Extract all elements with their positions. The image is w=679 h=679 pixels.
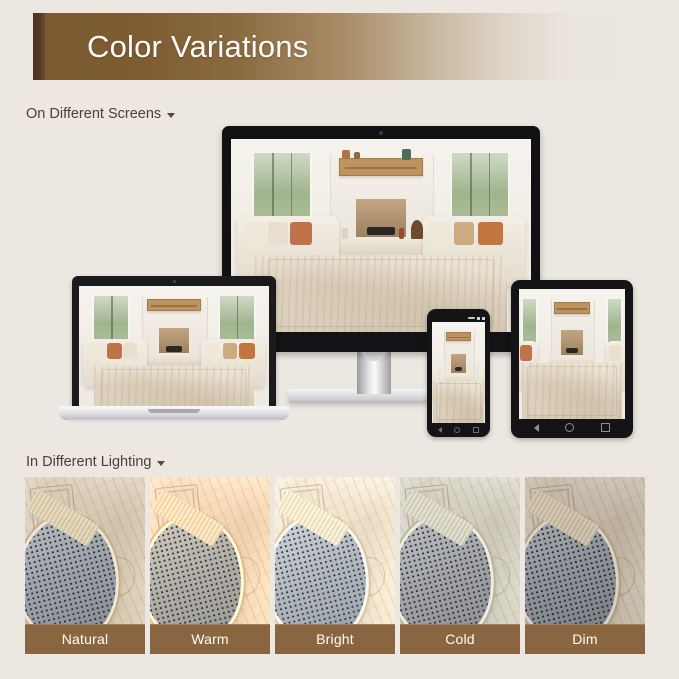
phone-screen: [432, 322, 485, 423]
lighting-tile-cold[interactable]: Cold: [400, 477, 520, 654]
banner-left-edge: [33, 13, 45, 80]
room-scene-laptop: [79, 286, 269, 419]
device-tablet[interactable]: [511, 280, 633, 438]
rug-swatch-image: [275, 477, 395, 624]
battery-icon: [482, 317, 485, 320]
section-heading-screens-label: On Different Screens: [26, 106, 161, 122]
room-scene-phone: [432, 322, 485, 423]
recents-icon[interactable]: [473, 427, 479, 433]
lighting-tile-label: Dim: [525, 624, 645, 654]
lighting-tiles-grid: Natural Warm Bright Cold: [25, 477, 645, 654]
devices-group: [0, 126, 679, 446]
room-decor-table: [411, 220, 423, 239]
section-heading-lighting-label: In Different Lighting: [26, 454, 151, 470]
product-color-variations-panel: Color Variations On Different Screens: [0, 0, 679, 679]
home-icon[interactable]: [565, 423, 574, 432]
rug-swatch-image: [400, 477, 520, 624]
chevron-down-icon[interactable]: [157, 461, 165, 466]
tablet-screen: [519, 289, 625, 419]
phone-status-bar: [432, 314, 485, 322]
chevron-down-icon[interactable]: [167, 113, 175, 118]
room-decor-vase: [342, 150, 350, 160]
lighting-tile-label: Warm: [150, 624, 270, 654]
lighting-tile-dim[interactable]: Dim: [525, 477, 645, 654]
room-decor-vase: [399, 228, 404, 240]
device-laptop[interactable]: [72, 276, 276, 426]
lighting-tile-natural[interactable]: Natural: [25, 477, 145, 654]
monitor-screen: [231, 139, 531, 332]
room-decor-vase: [354, 152, 360, 160]
rug-swatch-image: [150, 477, 270, 624]
header-banner: Color Variations: [33, 13, 633, 80]
section-heading-screens[interactable]: On Different Screens: [26, 106, 175, 122]
room-mantel-shelf: [339, 158, 423, 175]
lighting-tile-label: Natural: [25, 624, 145, 654]
webcam-icon: [173, 280, 176, 283]
room-decor-vase: [342, 228, 348, 240]
rug-swatch-image: [525, 477, 645, 624]
room-scene-monitor: [231, 139, 531, 332]
laptop-hinge-notch: [148, 409, 200, 413]
device-phone[interactable]: [427, 309, 490, 437]
room-scene-tablet: [519, 289, 625, 419]
tablet-nav-bar[interactable]: [521, 420, 623, 435]
lighting-tile-label: Bright: [275, 624, 395, 654]
signal-icon: [468, 317, 475, 319]
wifi-icon: [477, 317, 480, 320]
home-icon[interactable]: [454, 427, 460, 433]
rug-swatch-image: [25, 477, 145, 624]
recents-icon[interactable]: [601, 423, 610, 432]
webcam-icon: [379, 131, 383, 135]
back-icon[interactable]: [438, 427, 442, 433]
lighting-tile-warm[interactable]: Warm: [150, 477, 270, 654]
section-heading-lighting[interactable]: In Different Lighting: [26, 454, 165, 470]
monitor-stand-neck: [357, 352, 391, 394]
laptop-screen: [79, 286, 269, 419]
phone-nav-bar[interactable]: [432, 424, 485, 435]
room-decor-vase: [402, 149, 411, 161]
lighting-tile-bright[interactable]: Bright: [275, 477, 395, 654]
lighting-tile-label: Cold: [400, 624, 520, 654]
page-title: Color Variations: [87, 29, 308, 65]
back-icon[interactable]: [534, 424, 539, 432]
laptop-base-foot: [68, 419, 280, 425]
